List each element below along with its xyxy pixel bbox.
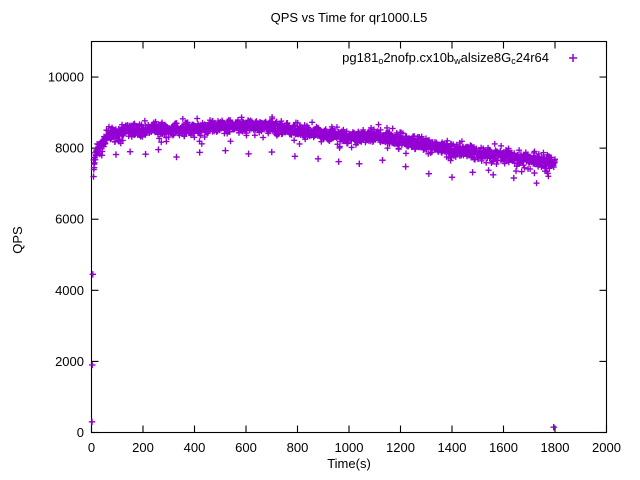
y-tick-label: 0 [77,425,84,440]
x-tick-label: 1600 [489,440,518,455]
x-tick-label: 1400 [438,440,467,455]
x-axis-title: Time(s) [327,456,371,471]
chart-background [0,0,640,480]
chart-canvas: QPS vs Time for qr1000.L5 02000400060008… [0,0,640,480]
x-tick-label: 2000 [592,440,621,455]
qps-vs-time-scatter-chart: QPS vs Time for qr1000.L5 02000400060008… [0,0,640,480]
x-tick-label: 1800 [541,440,570,455]
x-tick-label: 600 [235,440,257,455]
x-tick-label: 400 [184,440,206,455]
x-tick-label: 800 [287,440,309,455]
y-tick-label: 2000 [55,354,84,369]
y-tick-label: 6000 [55,212,84,227]
x-tick-label: 1200 [386,440,415,455]
chart-title: QPS vs Time for qr1000.L5 [271,10,428,25]
y-tick-label: 8000 [55,141,84,156]
y-tick-label: 4000 [55,283,84,298]
x-tick-label: 0 [88,440,95,455]
x-tick-label: 200 [132,440,154,455]
legend-series-label: pg181o2nofp.cx10bwalsize8Gc24r64 [342,50,549,66]
x-tick-label: 1000 [335,440,364,455]
y-tick-label: 10000 [48,70,84,85]
y-axis-title: QPS [10,226,25,254]
